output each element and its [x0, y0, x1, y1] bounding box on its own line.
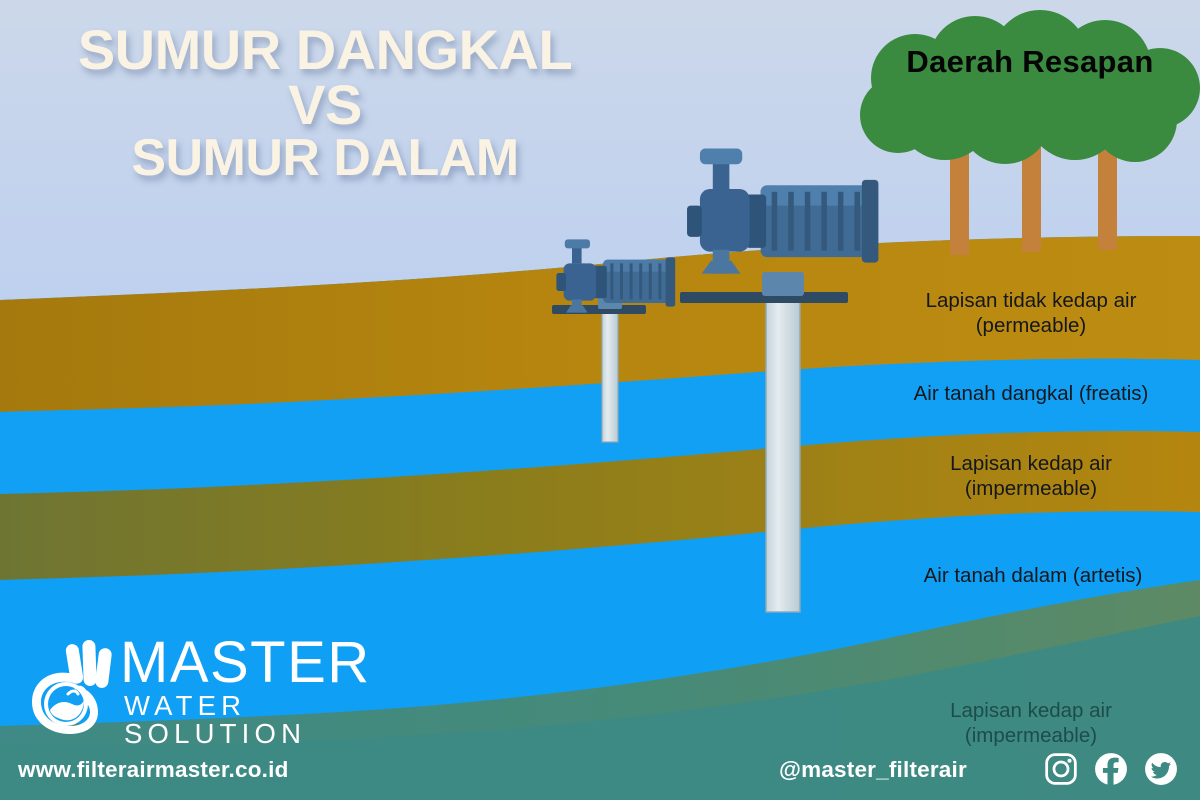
brand-logo: MASTER WATER SOLUTION [28, 638, 368, 748]
label-lapisan-permeable: Lapisan tidak kedap air (permeable) [872, 288, 1190, 338]
title-line-3: SUMUR DALAM [0, 133, 650, 184]
label-air-tanah-dangkal: Air tanah dangkal (freatis) [866, 381, 1196, 406]
facebook-icon[interactable] [1094, 752, 1128, 786]
title-line-1: SUMUR DANGKAL [0, 22, 650, 77]
social-handle[interactable]: @master_filterair [779, 757, 967, 783]
logo-tagline: WATER SOLUTION [124, 692, 368, 747]
label-lapisan-impermeable-bottom: Lapisan kedap air (impermeable) [872, 698, 1190, 748]
label-lapisan-impermeable-mid: Lapisan kedap air (impermeable) [872, 451, 1190, 501]
ok-hand-water-drop-icon [28, 638, 114, 738]
twitter-icon[interactable] [1144, 752, 1178, 786]
instagram-icon[interactable] [1044, 752, 1078, 786]
title-line-2: VS [0, 77, 650, 132]
infographic-canvas: SUMUR DANGKAL VS SUMUR DALAM Daerah Resa… [0, 0, 1200, 800]
website-url[interactable]: www.filterairmaster.co.id [18, 757, 289, 783]
label-air-tanah-dalam: Air tanah dalam (artetis) [872, 563, 1194, 588]
social-links [1044, 752, 1178, 786]
logo-wordmark: MASTER [120, 634, 371, 692]
label-daerah-resapan: Daerah Resapan [872, 44, 1188, 80]
page-title: SUMUR DANGKAL VS SUMUR DALAM [0, 22, 650, 184]
